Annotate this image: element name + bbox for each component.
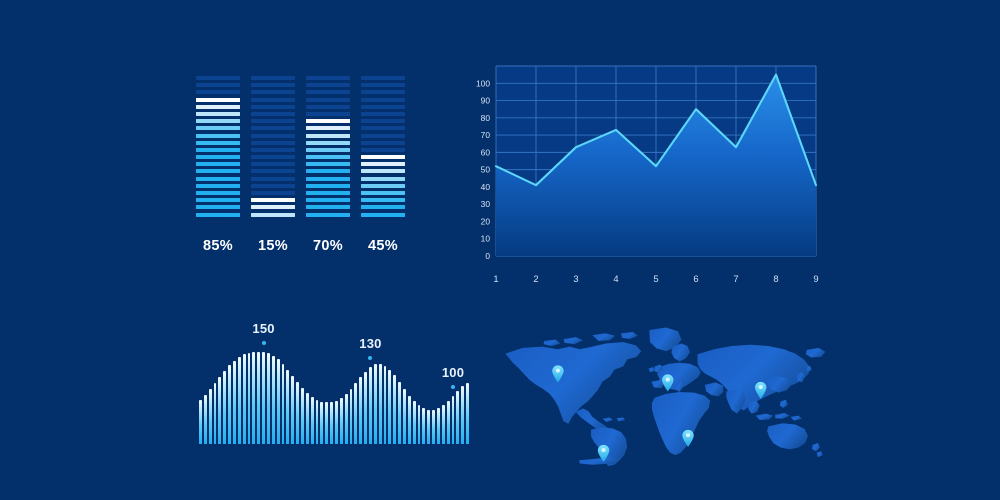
bar-segment <box>361 205 405 209</box>
map-pin-center-dot <box>686 433 690 437</box>
bar-percent-label: 70% <box>306 238 350 254</box>
landmass-shape <box>652 392 710 455</box>
bar-segment <box>306 213 350 217</box>
wave-bar <box>238 357 241 444</box>
x-tick-label: 1 <box>493 273 498 284</box>
x-axis-labels: 123456789 <box>493 273 818 284</box>
wave-bar <box>204 395 207 444</box>
map-pin-center-dot <box>556 368 560 372</box>
world-map-svg <box>492 316 830 466</box>
y-tick-label: 50 <box>481 165 491 175</box>
bar-segment <box>196 83 240 87</box>
wave-bar <box>257 352 260 444</box>
segmented-bar-column <box>306 76 350 220</box>
bar-segment <box>251 205 295 209</box>
wave-bar <box>233 361 236 444</box>
wave-bar <box>248 353 251 444</box>
wave-bar <box>432 410 435 444</box>
wave-bar <box>384 366 387 444</box>
wave-bar <box>403 389 406 444</box>
wave-bar <box>223 371 226 445</box>
wave-bar-chart: 150130100 <box>198 312 470 452</box>
x-tick-label: 6 <box>693 273 698 284</box>
bar-segment <box>306 134 350 138</box>
map-pin-center-dot <box>601 448 605 452</box>
bar-percent-label: 45% <box>361 238 405 254</box>
segmented-bar-column <box>251 76 295 220</box>
bar-segment <box>306 141 350 145</box>
y-tick-label: 0 <box>485 251 490 261</box>
segmented-bar-column <box>361 76 405 220</box>
bar-segment <box>196 191 240 195</box>
wave-bar <box>379 364 382 444</box>
bar-segment <box>306 205 350 209</box>
bar-segment <box>361 83 405 87</box>
world-map <box>492 316 830 466</box>
landmass-shape <box>780 400 788 408</box>
landmass-shape <box>756 414 773 420</box>
wave-bar <box>369 367 372 444</box>
wave-bar <box>199 400 202 444</box>
bar-segment <box>251 112 295 116</box>
bar-segment <box>196 148 240 152</box>
x-tick-label: 2 <box>533 273 538 284</box>
segment-stack <box>196 76 240 217</box>
bar-segment <box>251 98 295 102</box>
wave-bar <box>461 386 464 444</box>
wave-bar <box>330 402 333 444</box>
landmass-shape <box>505 342 641 424</box>
bar-segment <box>306 155 350 159</box>
bar-segment <box>196 205 240 209</box>
line-chart-svg: 0102030405060708090100 123456789 <box>458 52 830 290</box>
bar-segment <box>196 141 240 145</box>
map-pin-center-dot <box>666 377 670 381</box>
landmass-shape <box>767 423 808 449</box>
bar-segment <box>361 126 405 130</box>
bar-segment <box>306 148 350 152</box>
bar-percent-label: 85% <box>196 238 240 254</box>
wave-peak-dot <box>262 341 266 345</box>
bar-segment <box>361 177 405 181</box>
bar-segment <box>306 98 350 102</box>
bar-segment <box>251 169 295 173</box>
landmass-shape <box>817 451 823 457</box>
bar-segment <box>306 76 350 80</box>
wave-bar <box>354 383 357 444</box>
wave-bar <box>218 377 221 444</box>
wave-bar <box>456 391 459 444</box>
landmass-shape <box>671 343 690 361</box>
bar-segment <box>306 90 350 94</box>
bar-segment <box>196 126 240 130</box>
bar-segment <box>361 148 405 152</box>
bar-segment <box>306 184 350 188</box>
bar-segment <box>361 155 405 159</box>
wave-bar <box>311 397 314 444</box>
y-tick-label: 90 <box>481 96 491 106</box>
segmented-bar-column <box>196 76 240 220</box>
infographic-canvas: 85%15%70%45% 0102030405060708090100 1234… <box>0 0 1000 500</box>
landmass-shape <box>806 348 825 358</box>
bar-segment <box>196 119 240 123</box>
bar-segment <box>251 126 295 130</box>
bar-segment <box>361 105 405 109</box>
wave-bar <box>252 352 255 444</box>
bar-segment <box>361 134 405 138</box>
wave-bar <box>427 410 430 444</box>
landmass-shape <box>602 417 613 421</box>
bar-segment <box>251 141 295 145</box>
bar-segment <box>306 105 350 109</box>
bar-segment <box>196 90 240 94</box>
landmasses <box>505 327 825 466</box>
bar-segment <box>361 213 405 217</box>
bar-segment <box>196 162 240 166</box>
bar-segment <box>251 155 295 159</box>
landmass-shape <box>812 443 820 451</box>
landmass-shape <box>564 337 583 344</box>
bar-segment <box>306 169 350 173</box>
wave-bar <box>359 377 362 444</box>
wave-bar <box>214 383 217 444</box>
bar-segment <box>251 184 295 188</box>
wave-bar <box>340 398 343 444</box>
wave-bar <box>447 401 450 444</box>
landmass-shape <box>705 382 724 396</box>
bar-segment <box>361 76 405 80</box>
bar-segment <box>251 83 295 87</box>
bar-segment <box>251 177 295 181</box>
landmass-shape <box>791 416 802 421</box>
y-tick-label: 80 <box>481 113 491 123</box>
wave-bar <box>228 365 231 444</box>
y-tick-label: 100 <box>476 78 490 88</box>
wave-bar <box>413 401 416 444</box>
bar-segment <box>306 112 350 116</box>
line-area-chart: 0102030405060708090100 123456789 <box>458 52 830 290</box>
wave-bar <box>398 382 401 444</box>
wave-bar <box>262 352 265 444</box>
wave-bar <box>320 402 323 444</box>
bar-segment <box>361 90 405 94</box>
bar-segment <box>196 184 240 188</box>
segmented-bar-chart: 85%15%70%45% <box>196 76 421 266</box>
bar-segment <box>306 191 350 195</box>
wave-peak-dot <box>368 356 372 360</box>
wave-bar <box>272 356 275 444</box>
wave-bar <box>452 396 455 444</box>
bar-segment <box>306 119 350 123</box>
wave-bar <box>335 401 338 444</box>
bar-segment <box>251 105 295 109</box>
y-axis-labels: 0102030405060708090100 <box>476 78 490 261</box>
wave-bar <box>408 396 411 444</box>
bar-segment <box>361 191 405 195</box>
wave-bar <box>388 370 391 444</box>
bar-segment <box>361 162 405 166</box>
landmass-shape <box>621 332 638 339</box>
wave-bar <box>325 402 328 444</box>
bar-segment <box>306 198 350 202</box>
bar-segment <box>251 134 295 138</box>
wave-peak-dot <box>451 385 455 389</box>
bar-segment <box>306 162 350 166</box>
wave-bar <box>306 393 309 444</box>
bar-segment <box>196 105 240 109</box>
y-tick-label: 60 <box>481 147 491 157</box>
landmass-shape <box>775 413 790 419</box>
landmass-shape <box>697 345 809 411</box>
wave-bar <box>277 359 280 444</box>
bar-segment <box>361 198 405 202</box>
y-tick-label: 10 <box>481 234 491 244</box>
bar-segment <box>361 112 405 116</box>
wave-bar <box>209 389 212 444</box>
x-tick-label: 4 <box>613 273 618 284</box>
bar-segment <box>361 141 405 145</box>
bar-segment <box>196 134 240 138</box>
bar-segment <box>196 98 240 102</box>
bar-segment <box>251 148 295 152</box>
map-pin-center-dot <box>759 385 763 389</box>
x-tick-label: 9 <box>813 273 818 284</box>
bar-segment <box>306 177 350 181</box>
wave-bar <box>466 383 469 444</box>
landmass-shape <box>544 340 561 346</box>
bar-segment <box>361 119 405 123</box>
bar-segment <box>196 213 240 217</box>
landmass-shape <box>748 401 759 414</box>
bar-segment <box>251 191 295 195</box>
bar-segment <box>361 184 405 188</box>
wave-bar <box>345 394 348 444</box>
wave-bar <box>296 382 299 444</box>
wave-bar <box>282 364 285 444</box>
segment-stack <box>306 76 350 217</box>
wave-peak-label: 150 <box>252 321 274 336</box>
wave-bar <box>316 400 319 444</box>
bar-segment <box>196 177 240 181</box>
bar-segment <box>196 169 240 173</box>
bar-segment <box>251 198 295 202</box>
bar-segment <box>251 213 295 217</box>
wave-bar <box>267 353 270 444</box>
bar-segment <box>196 198 240 202</box>
segment-stack <box>251 76 295 217</box>
bar-segment <box>196 155 240 159</box>
wave-bar <box>437 408 440 444</box>
bar-segment <box>361 98 405 102</box>
wave-bar <box>350 389 353 444</box>
x-tick-label: 7 <box>733 273 738 284</box>
y-tick-label: 30 <box>481 199 491 209</box>
wave-bar <box>364 372 367 444</box>
bar-segment <box>251 76 295 80</box>
bar-percent-label: 15% <box>251 238 295 254</box>
x-tick-label: 5 <box>653 273 658 284</box>
wave-bar <box>286 370 289 444</box>
wave-bar <box>301 388 304 444</box>
y-tick-label: 20 <box>481 216 491 226</box>
bar-segment <box>196 76 240 80</box>
landmass-shape <box>592 333 615 341</box>
bar-segment <box>306 126 350 130</box>
landmass-shape <box>616 417 625 421</box>
bar-segment <box>361 169 405 173</box>
x-tick-label: 3 <box>573 273 578 284</box>
wave-bar <box>393 375 396 444</box>
wave-peak-label: 130 <box>359 336 381 351</box>
wave-bar <box>442 405 445 444</box>
x-tick-label: 8 <box>773 273 778 284</box>
wave-bar <box>374 364 377 444</box>
wave-peak-label: 100 <box>442 365 464 380</box>
bar-segment <box>196 112 240 116</box>
bar-segment <box>251 90 295 94</box>
y-tick-label: 40 <box>481 182 491 192</box>
segment-stack <box>361 76 405 217</box>
wave-bar <box>243 354 246 444</box>
bar-segment <box>251 119 295 123</box>
landmass-shape <box>726 389 745 413</box>
wave-bar <box>422 408 425 444</box>
bar-segment <box>306 83 350 87</box>
wave-bar <box>291 376 294 444</box>
landmass-shape <box>649 367 655 372</box>
wave-bar <box>418 405 421 444</box>
bar-segment <box>251 162 295 166</box>
y-tick-label: 70 <box>481 130 491 140</box>
